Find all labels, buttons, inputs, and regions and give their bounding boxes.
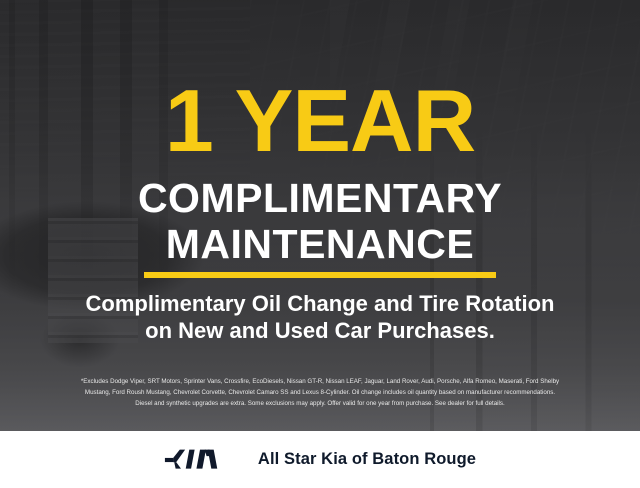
headline-secondary-line-1: COMPLIMENTARY: [0, 178, 640, 219]
headline-secondary-line-2: MAINTENANCE: [0, 224, 640, 265]
footer-bar: All Star Kia of Baton Rouge: [0, 431, 640, 488]
kia-logo-icon: [164, 449, 236, 471]
dealer-name: All Star Kia of Baton Rouge: [258, 450, 476, 469]
subheadline-line-2: on New and Used Car Purchases.: [0, 317, 640, 344]
disclaimer-line-1: *Excludes Dodge Viper, SRT Motors, Sprin…: [14, 376, 626, 387]
subheadline: Complimentary Oil Change and Tire Rotati…: [0, 290, 640, 344]
banner-content: 1 YEAR COMPLIMENTARY MAINTENANCE Complim…: [0, 0, 640, 488]
disclaimer-text: *Excludes Dodge Viper, SRT Motors, Sprin…: [14, 376, 626, 409]
subheadline-line-1: Complimentary Oil Change and Tire Rotati…: [0, 290, 640, 317]
headline-primary: 1 YEAR: [0, 77, 640, 165]
accent-divider-rule: [144, 272, 496, 278]
disclaimer-line-3: Diesel and synthetic upgrades are extra.…: [14, 398, 626, 409]
disclaimer-line-2: Mustang, Ford Roush Mustang, Chevrolet C…: [14, 387, 626, 398]
promotional-banner: 1 YEAR COMPLIMENTARY MAINTENANCE Complim…: [0, 0, 640, 488]
